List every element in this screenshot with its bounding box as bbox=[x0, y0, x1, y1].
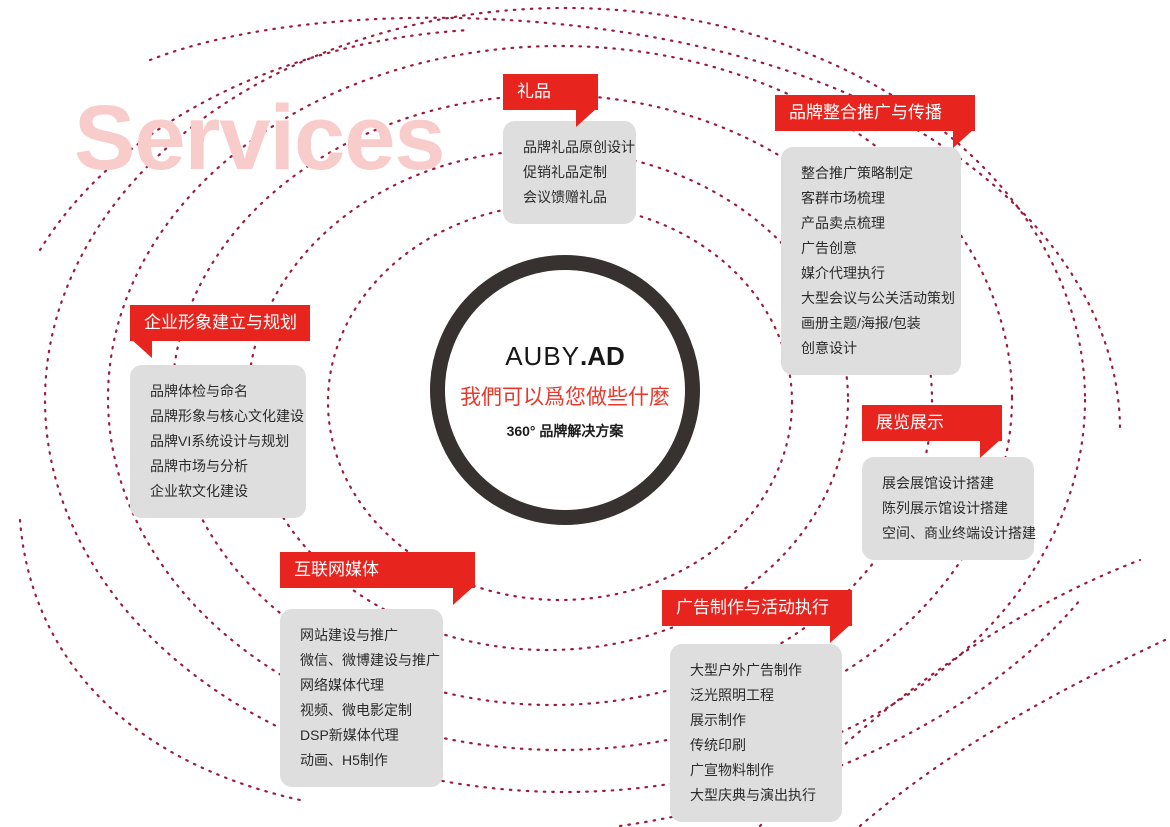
list-item: 企业软文化建设 bbox=[150, 479, 288, 504]
service-label-text: 展览展示 bbox=[876, 413, 944, 432]
list-item: 泛光照明工程 bbox=[690, 683, 824, 708]
list-item: 动画、H5制作 bbox=[300, 748, 425, 773]
service-box-brand-promotion: 整合推广策略制定 客群市场梳理 产品卖点梳理 广告创意 媒介代理执行 大型会议与… bbox=[781, 147, 961, 375]
service-box-corporate-image: 品牌体检与命名 品牌形象与核心文化建设 品牌VI系统设计与规划 品牌市场与分析 … bbox=[130, 365, 306, 518]
label-tail-icon bbox=[953, 130, 973, 148]
logo-light-text: AUBY bbox=[505, 341, 580, 371]
list-item: 空间、商业终端设计搭建 bbox=[882, 521, 1016, 546]
service-label-text: 广告制作与活动执行 bbox=[676, 598, 829, 617]
service-label-exhibition[interactable]: 展览展示 bbox=[862, 405, 1002, 441]
list-item: 大型庆典与演出执行 bbox=[690, 783, 824, 808]
service-label-ad-production[interactable]: 广告制作与活动执行 bbox=[662, 590, 852, 626]
list-item: 品牌礼品原创设计 bbox=[523, 135, 618, 160]
label-tail-icon bbox=[830, 625, 850, 643]
list-item: 客群市场梳理 bbox=[801, 186, 943, 211]
list-item: 整合推广策略制定 bbox=[801, 161, 943, 186]
list-item: 视频、微电影定制 bbox=[300, 698, 425, 723]
auby-ad-logo: AUBY.AD bbox=[505, 343, 625, 369]
list-item: 促销礼品定制 bbox=[523, 160, 618, 185]
service-label-gifts[interactable]: 礼品 bbox=[503, 74, 598, 110]
list-item: 展会展馆设计搭建 bbox=[882, 471, 1016, 496]
list-item: 创意设计 bbox=[801, 336, 943, 361]
label-tail-icon bbox=[453, 587, 473, 605]
list-item: 大型户外广告制作 bbox=[690, 658, 824, 683]
list-item: 陈列展示馆设计搭建 bbox=[882, 496, 1016, 521]
service-box-internet-media: 网站建设与推广 微信、微博建设与推广 网络媒体代理 视频、微电影定制 DSP新媒… bbox=[280, 609, 443, 787]
infographic-canvas: Services AUBY.AD 我們可以爲您做些什麼 360° 品牌解决方案 … bbox=[0, 0, 1170, 827]
service-box-ad-production: 大型户外广告制作 泛光照明工程 展示制作 传统印刷 广宣物料制作 大型庆典与演出… bbox=[670, 644, 842, 822]
service-label-corporate-image[interactable]: 企业形象建立与规划 bbox=[130, 305, 310, 341]
service-label-text: 互联网媒体 bbox=[294, 560, 379, 579]
list-item: 网站建设与推广 bbox=[300, 623, 425, 648]
list-item: 品牌VI系统设计与规划 bbox=[150, 429, 288, 454]
service-label-text: 企业形象建立与规划 bbox=[144, 313, 297, 332]
logo-bold-text: .AD bbox=[580, 341, 625, 371]
list-item: DSP新媒体代理 bbox=[300, 723, 425, 748]
list-item: 广宣物料制作 bbox=[690, 758, 824, 783]
list-item: 画册主题/海报/包装 bbox=[801, 311, 943, 336]
list-item: 品牌市场与分析 bbox=[150, 454, 288, 479]
service-label-text: 礼品 bbox=[517, 82, 551, 101]
label-tail-icon bbox=[576, 109, 596, 127]
page-title: Services bbox=[74, 92, 445, 184]
list-item: 广告创意 bbox=[801, 236, 943, 261]
service-box-gifts: 品牌礼品原创设计 促销礼品定制 会议馈赠礼品 bbox=[503, 121, 636, 224]
center-tagline: 我們可以爲您做些什麼 bbox=[460, 387, 670, 408]
service-box-exhibition: 展会展馆设计搭建 陈列展示馆设计搭建 空间、商业终端设计搭建 bbox=[862, 457, 1034, 560]
list-item: 品牌体检与命名 bbox=[150, 379, 288, 404]
list-item: 微信、微博建设与推广 bbox=[300, 648, 425, 673]
list-item: 会议馈赠礼品 bbox=[523, 185, 618, 210]
service-label-internet-media[interactable]: 互联网媒体 bbox=[280, 552, 475, 588]
list-item: 传统印刷 bbox=[690, 733, 824, 758]
list-item: 网络媒体代理 bbox=[300, 673, 425, 698]
list-item: 大型会议与公关活动策划 bbox=[801, 286, 943, 311]
center-subtitle: 360° 品牌解决方案 bbox=[507, 424, 624, 438]
list-item: 品牌形象与核心文化建设 bbox=[150, 404, 288, 429]
list-item: 产品卖点梳理 bbox=[801, 211, 943, 236]
service-label-text: 品牌整合推广与传播 bbox=[789, 103, 942, 122]
list-item: 展示制作 bbox=[690, 708, 824, 733]
service-label-brand-promotion[interactable]: 品牌整合推广与传播 bbox=[775, 95, 975, 131]
list-item: 媒介代理执行 bbox=[801, 261, 943, 286]
label-tail-icon bbox=[132, 340, 152, 358]
label-tail-icon bbox=[980, 440, 1000, 458]
center-content: AUBY.AD 我們可以爲您做些什麼 360° 品牌解决方案 bbox=[430, 255, 700, 525]
